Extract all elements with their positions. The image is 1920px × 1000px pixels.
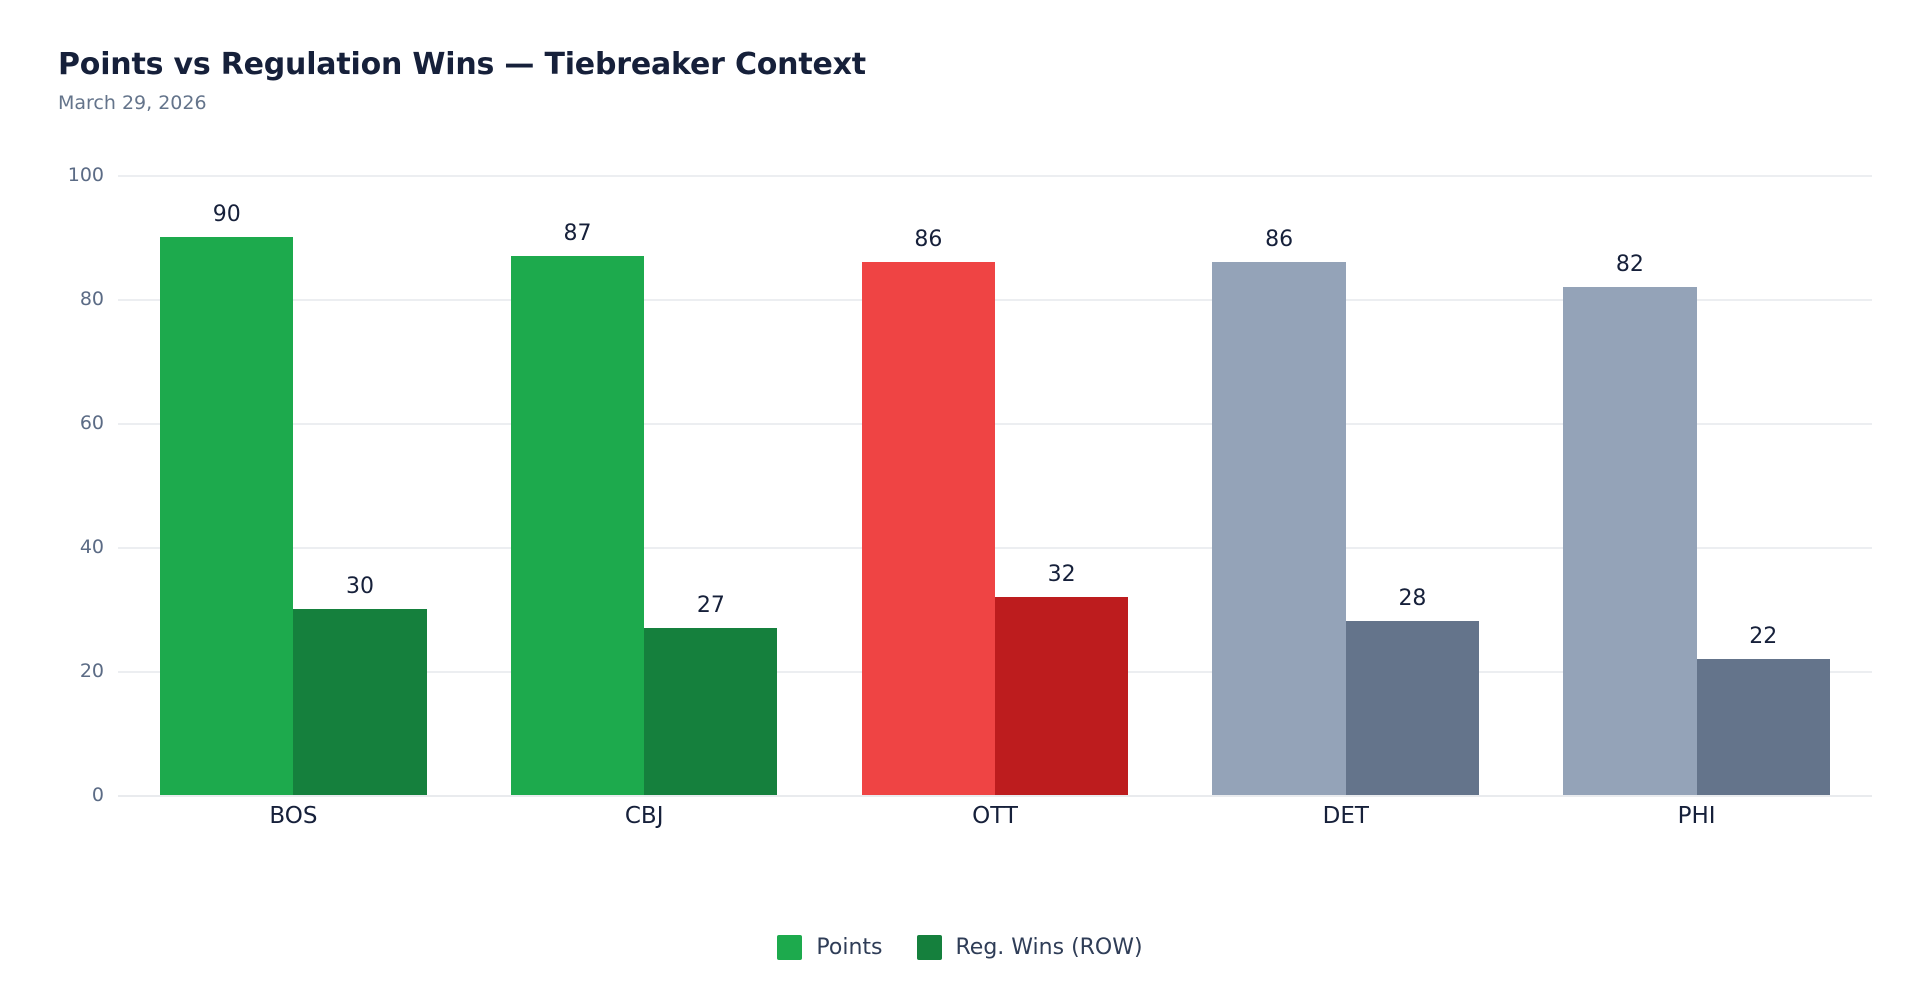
legend-label: Reg. Wins (ROW): [956, 935, 1143, 960]
bar-ott-reg-wins-row[interactable]: [995, 597, 1128, 795]
x-tick-label-cbj: CBJ: [625, 803, 664, 829]
gridline-0: [118, 795, 1872, 797]
legend-item-reg-wins-row[interactable]: Reg. Wins (ROW): [917, 935, 1143, 960]
bar-cbj-points[interactable]: [511, 256, 644, 795]
bar-value-label: 90: [213, 202, 241, 227]
x-axis: BOSCBJOTTDETPHI: [118, 803, 1872, 853]
bars-layer: 90308727863286288222: [118, 175, 1872, 795]
plot-area: 020406080100 90308727863286288222 BOSCBJ…: [0, 175, 1920, 815]
y-tick-label: 100: [68, 164, 104, 186]
bar-group-bos: 9030: [160, 175, 427, 795]
x-tick-label-phi: PHI: [1678, 803, 1716, 829]
bar-det-reg-wins-row[interactable]: [1346, 621, 1479, 795]
y-tick-label: 0: [92, 784, 104, 806]
y-tick-label: 20: [80, 660, 104, 682]
bar-value-label: 28: [1398, 586, 1426, 611]
bar-cbj-reg-wins-row[interactable]: [644, 628, 777, 795]
legend-swatch-icon: [777, 935, 802, 960]
bar-group-ott: 8632: [862, 175, 1129, 795]
bar-value-label: 32: [1048, 562, 1076, 587]
chart-legend: PointsReg. Wins (ROW): [0, 935, 1920, 960]
y-tick-label: 40: [80, 536, 104, 558]
bar-value-label: 27: [697, 593, 725, 618]
chart-header: Points vs Regulation Wins — Tiebreaker C…: [58, 48, 1758, 114]
bar-ott-points[interactable]: [862, 262, 995, 795]
bar-value-label: 86: [1265, 227, 1293, 252]
bar-group-phi: 8222: [1563, 175, 1830, 795]
bar-value-label: 22: [1749, 624, 1777, 649]
chart-subtitle: March 29, 2026: [58, 93, 1758, 114]
x-tick-label-det: DET: [1323, 803, 1369, 829]
y-tick-label: 60: [80, 412, 104, 434]
legend-item-points[interactable]: Points: [777, 935, 882, 960]
bar-phi-reg-wins-row[interactable]: [1697, 659, 1830, 795]
bar-value-label: 87: [564, 221, 592, 246]
x-tick-label-ott: OTT: [972, 803, 1018, 829]
bar-bos-reg-wins-row[interactable]: [293, 609, 426, 795]
bar-value-label: 82: [1616, 252, 1644, 277]
bar-value-label: 86: [914, 227, 942, 252]
bar-phi-points[interactable]: [1563, 287, 1696, 795]
legend-label: Points: [816, 935, 882, 960]
y-tick-label: 80: [80, 288, 104, 310]
x-tick-label-bos: BOS: [269, 803, 317, 829]
legend-swatch-icon: [917, 935, 942, 960]
bar-det-points[interactable]: [1212, 262, 1345, 795]
bar-group-det: 8628: [1212, 175, 1479, 795]
y-axis: 020406080100: [0, 175, 118, 795]
page-title: Points vs Regulation Wins — Tiebreaker C…: [58, 48, 1758, 81]
bar-group-cbj: 8727: [511, 175, 778, 795]
bar-bos-points[interactable]: [160, 237, 293, 795]
bar-value-label: 30: [346, 574, 374, 599]
